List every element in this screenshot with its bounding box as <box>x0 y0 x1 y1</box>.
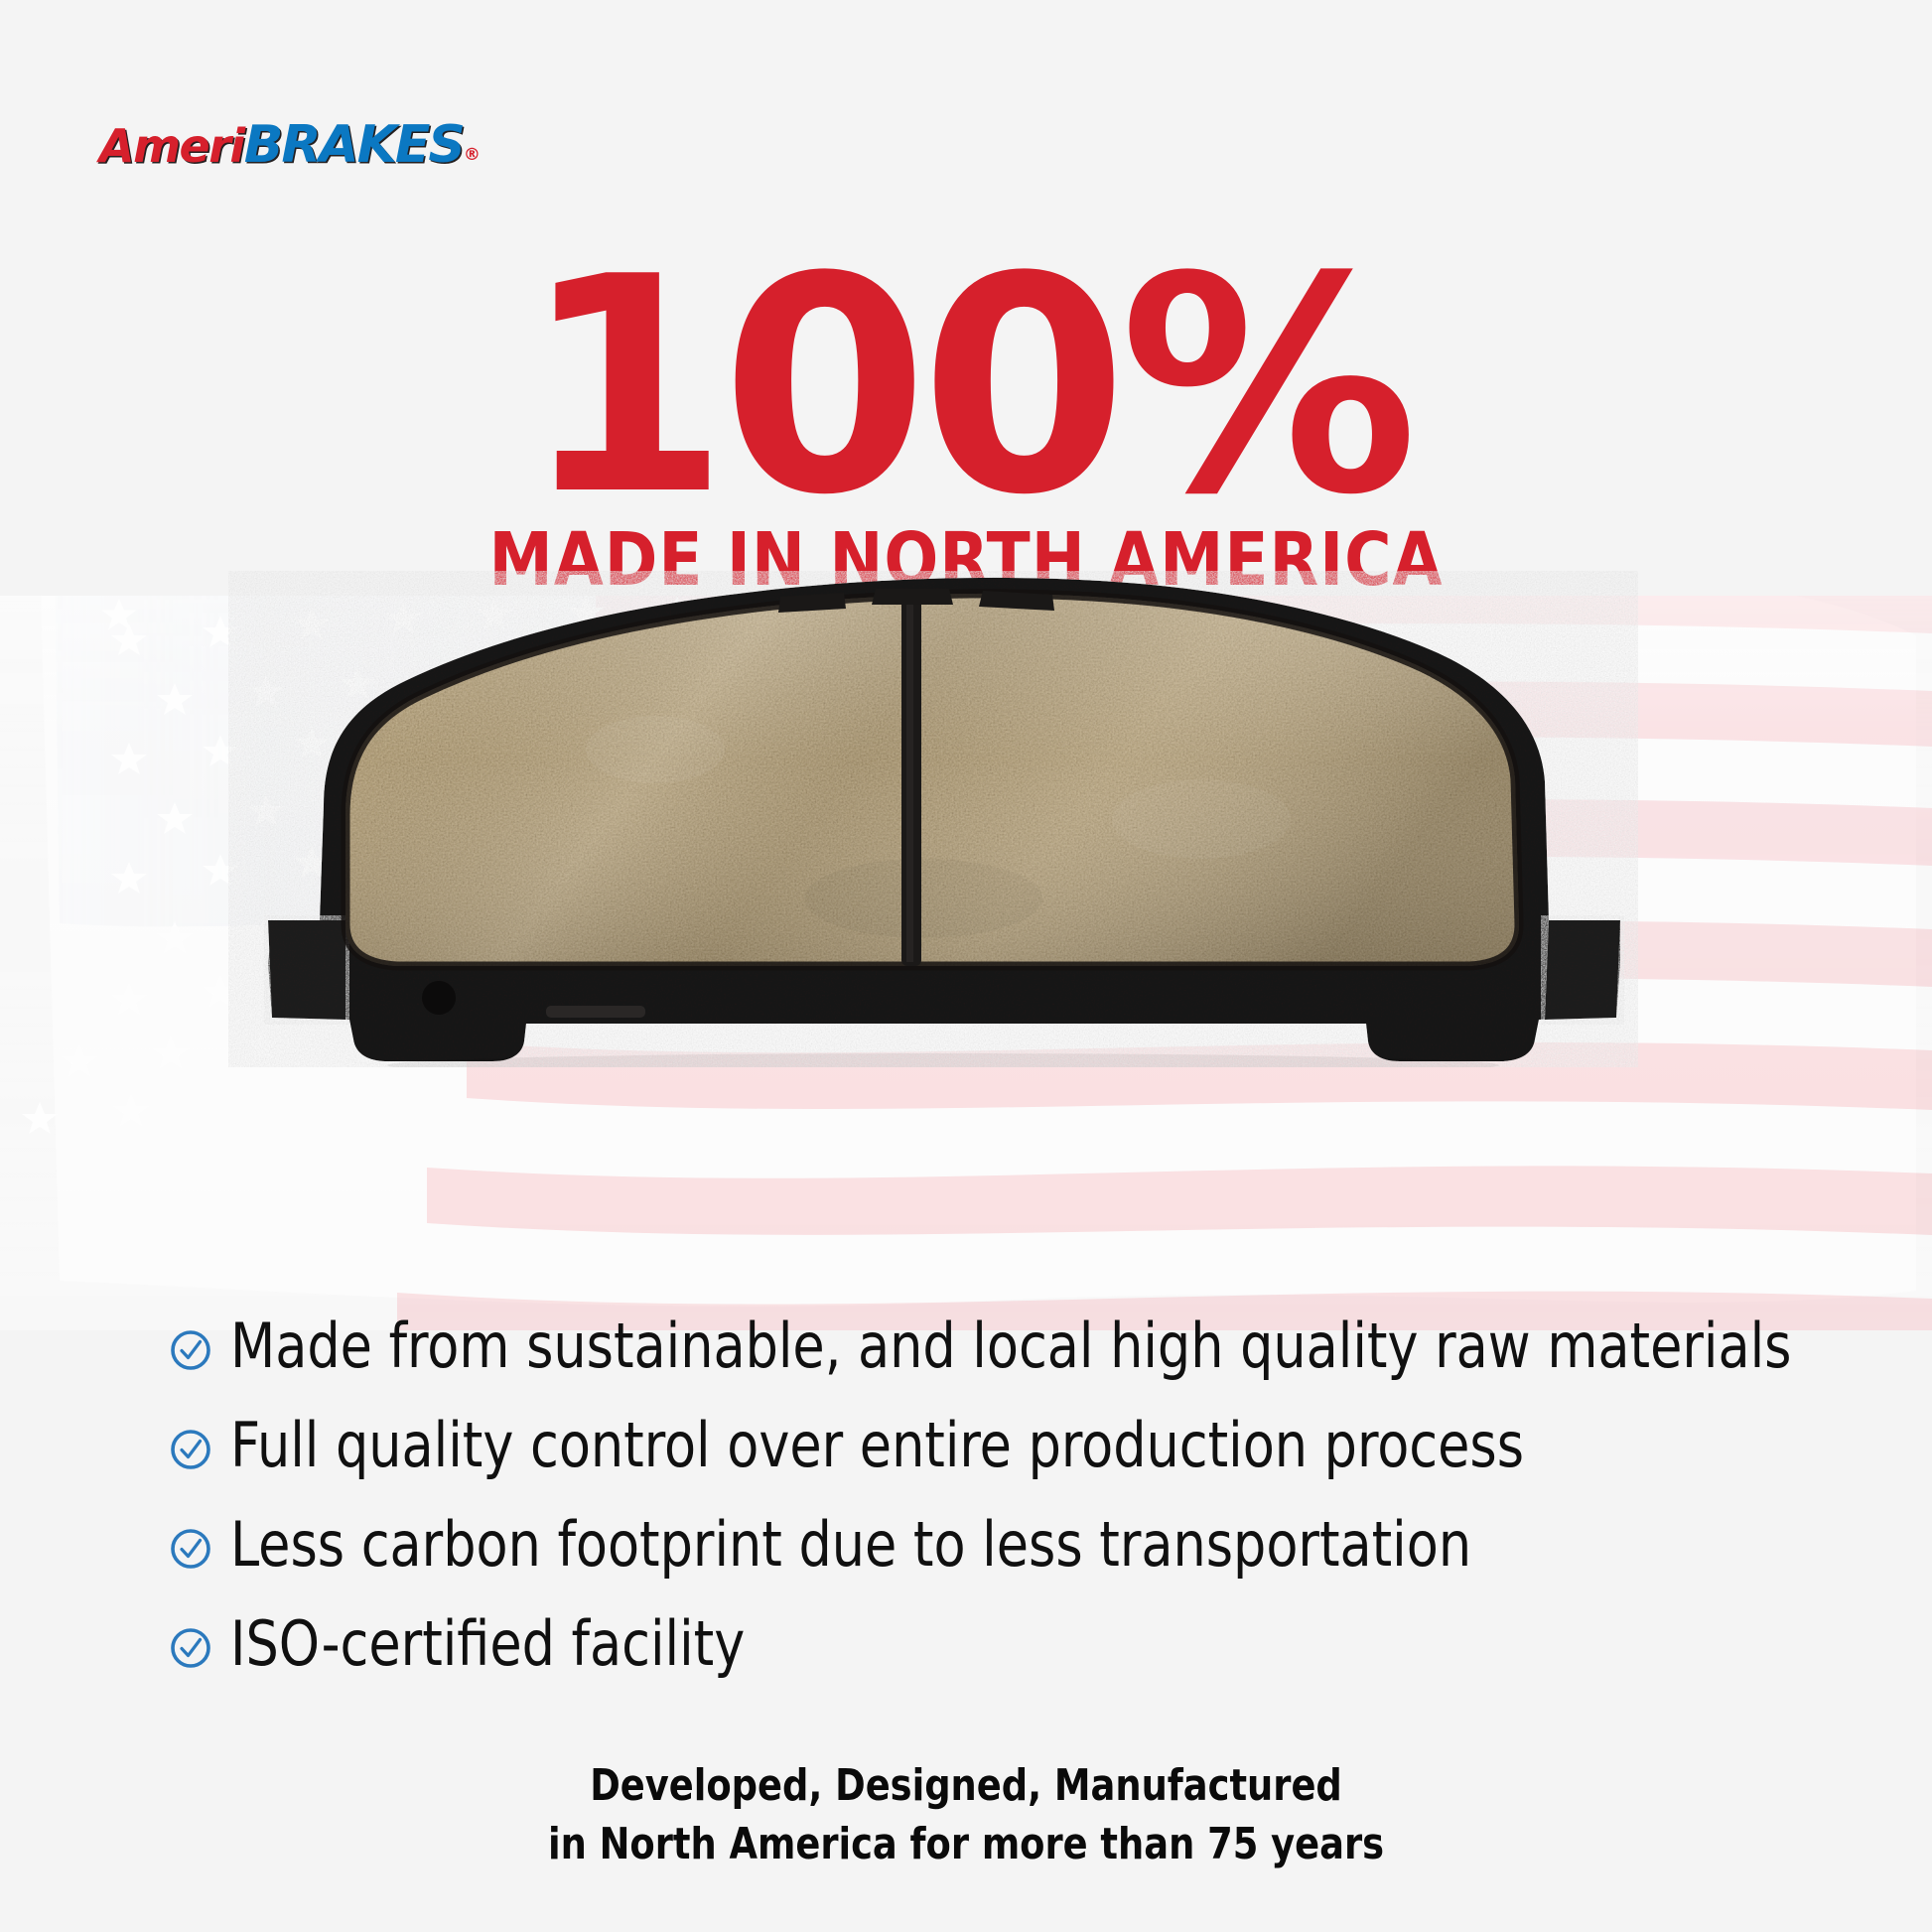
backing-plate-hole <box>422 981 456 1015</box>
promo-banner: AmeriBRAKES® 100% MADE IN NORTH AMERICA <box>0 0 1932 1932</box>
headline-percent: 100% <box>0 248 1932 525</box>
backing-plate-right-tab <box>1545 920 1620 1020</box>
feature-item-0: Made from sustainable, and local high qu… <box>169 1311 1797 1396</box>
feature-item-2: Less carbon footprint due to less transp… <box>169 1509 1797 1594</box>
backing-plate-left-tab <box>268 920 345 1020</box>
feature-item-1: Full quality control over entire product… <box>169 1410 1797 1495</box>
logo-text-brakes: BRAKES <box>244 115 464 175</box>
feature-list: Made from sustainable, and local high qu… <box>169 1311 1797 1708</box>
brake-pad-product-image <box>228 571 1638 1067</box>
ameribrakes-logo[interactable]: AmeriBRAKES® <box>99 119 479 171</box>
check-circle-icon <box>169 1626 212 1670</box>
footer-line-2: in North America for more than 75 years <box>68 1816 1864 1874</box>
check-circle-icon <box>169 1527 212 1571</box>
feature-item-3: ISO-certified facility <box>169 1608 1797 1694</box>
logo-text-ameri: Ameri <box>99 119 244 173</box>
center-slot <box>901 591 921 966</box>
feature-label: Less carbon footprint due to less transp… <box>230 1509 1471 1580</box>
feature-label: Made from sustainable, and local high qu… <box>230 1311 1791 1381</box>
check-circle-icon <box>169 1428 212 1471</box>
feature-label: Full quality control over entire product… <box>230 1410 1524 1480</box>
registered-trademark-icon: ® <box>464 145 480 165</box>
check-circle-icon <box>169 1328 212 1372</box>
bottom-notch-tab <box>546 1006 645 1018</box>
footer-line-1: Developed, Designed, Manufactured <box>68 1757 1864 1816</box>
product-shadow <box>387 1053 1499 1067</box>
footer-text: Developed, Designed, Manufactured in Nor… <box>0 1757 1932 1873</box>
feature-label: ISO-certified facility <box>230 1608 745 1679</box>
